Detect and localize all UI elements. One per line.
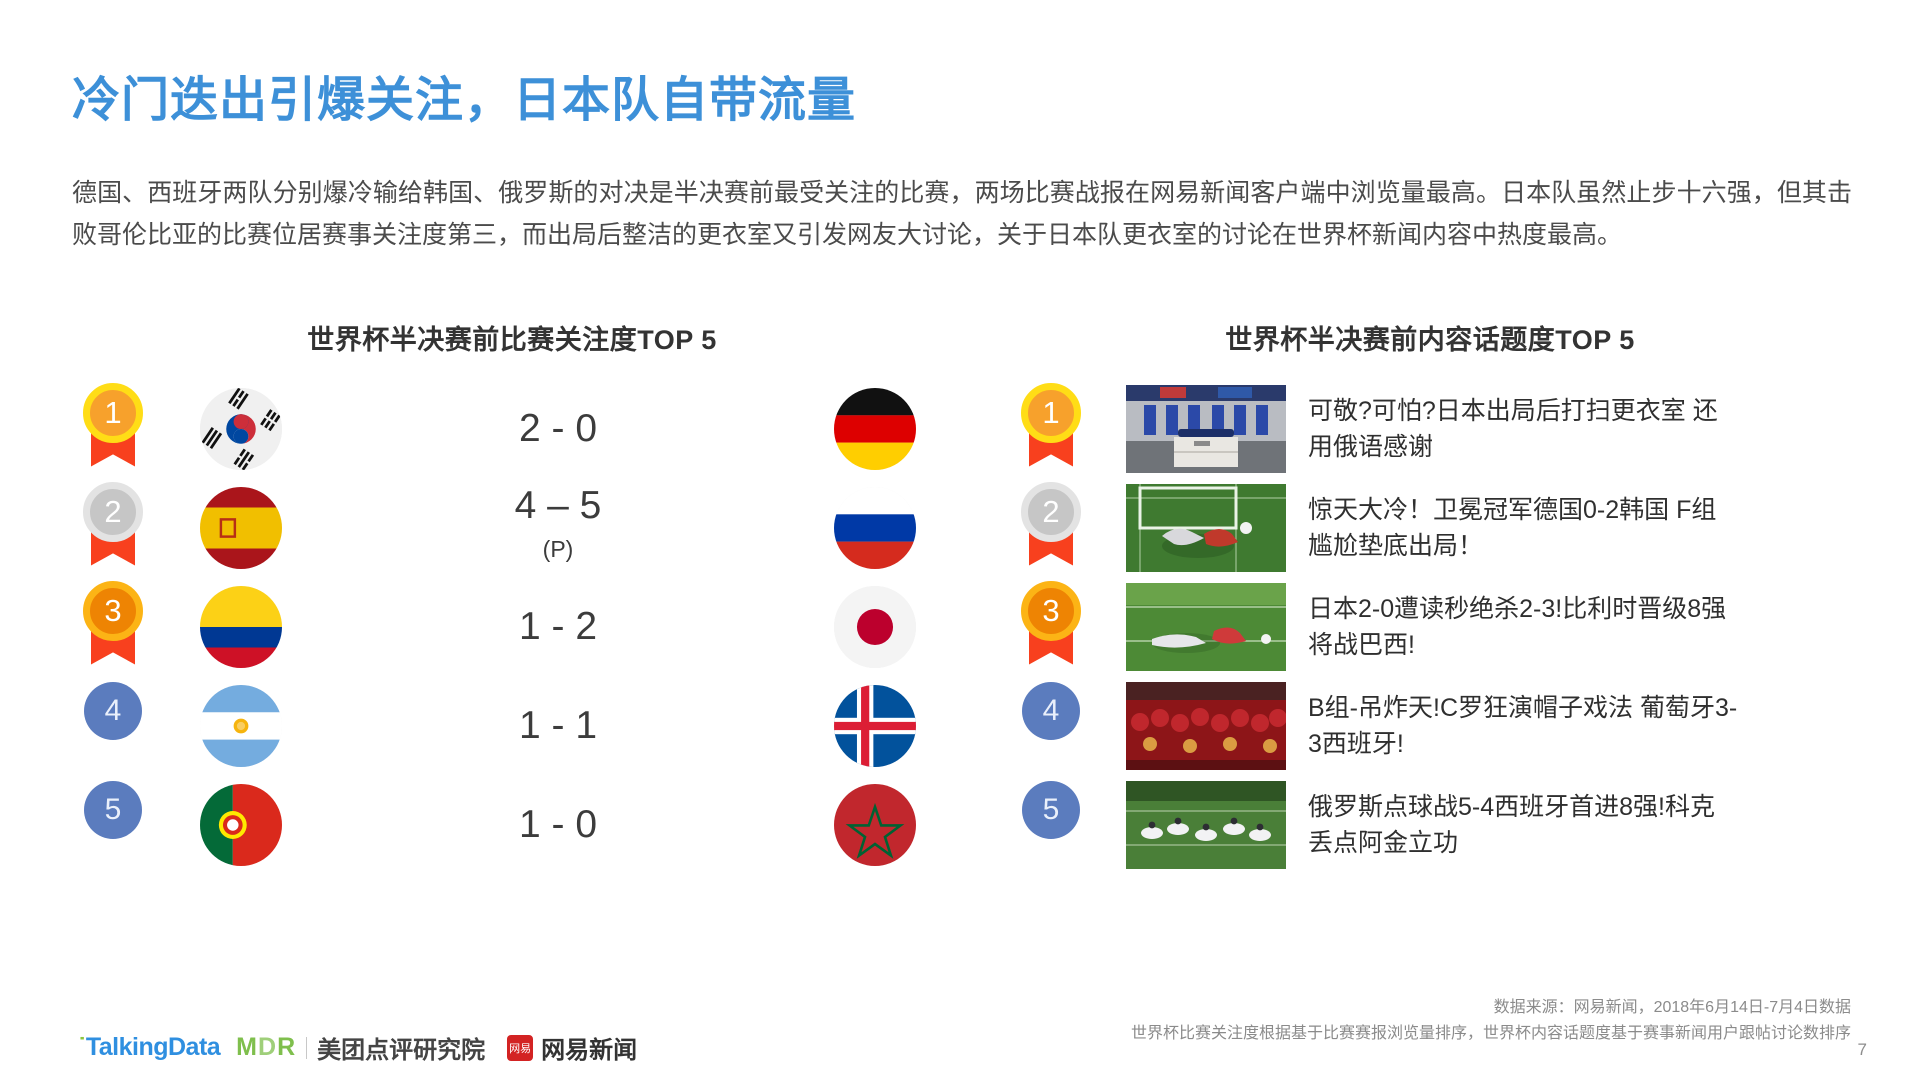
score-value: 1 - 1 — [519, 704, 597, 747]
match-row[interactable]: 41 - 1 — [72, 676, 952, 775]
score-note: (P) — [282, 529, 834, 569]
medal-icon: 3 — [1021, 581, 1081, 641]
rank-circle: 4 — [84, 682, 142, 740]
match-score: 2 - 0 — [282, 409, 834, 449]
source-line-1: 数据来源：网易新闻，2018年6月14日-7月4日数据 — [1131, 995, 1851, 1021]
match-row[interactable]: 24 – 5(P) — [72, 478, 952, 577]
news-headline[interactable]: 可敬?可怕?日本出局后打扫更衣室 还用俄语感谢 — [1308, 393, 1738, 465]
source-note: 数据来源：网易新闻，2018年6月14日-7月4日数据 世界杯比赛关注度根据基于… — [1131, 995, 1851, 1047]
news-row[interactable]: 4B组-吊炸天!C罗狂演帽子戏法 葡萄牙3-3西班牙! — [1010, 676, 1850, 775]
page-title: 冷门迭出引爆关注，日本队自带流量 — [72, 60, 856, 130]
right-panel-title: 世界杯半决赛前内容话题度TOP 5 — [1010, 318, 1850, 357]
medal-icon: 1 — [1021, 383, 1081, 443]
logo-divider — [306, 1037, 307, 1059]
rank-badge: 4 — [72, 680, 154, 772]
match-attention-panel: 世界杯半决赛前比赛关注度TOP 5 12 - 024 – 5(P)31 - 24… — [72, 318, 952, 874]
flag-spain — [200, 487, 282, 569]
rank-badge: 5 — [72, 779, 154, 871]
match-list: 12 - 024 – 5(P)31 - 241 - 151 - 0 — [72, 379, 952, 874]
news-thumbnail-players-on-pitch-photo[interactable] — [1126, 583, 1286, 671]
match-row[interactable]: 51 - 0 — [72, 775, 952, 874]
flag-morocco — [834, 784, 916, 866]
rank-badge: 5 — [1010, 779, 1092, 871]
rank-badge: 1 — [1010, 383, 1092, 475]
source-line-2: 世界杯比赛关注度根据基于比赛赛报浏览量排序，世界杯内容话题度基于赛事新闻用户跟帖… — [1131, 1021, 1851, 1047]
match-score: 1 - 0 — [282, 805, 834, 845]
netease-mark-icon: 网易 — [507, 1035, 533, 1061]
footer-logos: ˙TalkingData MDR 美团点评研究院 网易 网易新闻 — [78, 1030, 637, 1065]
news-row[interactable]: 3日本2-0遭读秒绝杀2-3!比利时晋级8强将战巴西! — [1010, 577, 1850, 676]
score-value: 1 - 2 — [519, 605, 597, 648]
flag-colombia — [200, 586, 282, 668]
rank-badge: 2 — [72, 482, 154, 574]
flag-portugal — [200, 784, 282, 866]
news-thumbnail-celebration-photo[interactable] — [1126, 781, 1286, 869]
mdr-logo: MDR — [236, 1033, 296, 1062]
news-row[interactable]: 1可敬?可怕?日本出局后打扫更衣室 还用俄语感谢 — [1010, 379, 1850, 478]
news-headline[interactable]: 俄罗斯点球战5-4西班牙首进8强!科克丢点阿金立功 — [1308, 789, 1738, 861]
match-score: 4 – 5(P) — [282, 486, 834, 569]
rank-badge: 1 — [72, 383, 154, 475]
match-row[interactable]: 12 - 0 — [72, 379, 952, 478]
score-value: 4 – 5 — [515, 484, 602, 527]
medal-icon: 1 — [83, 383, 143, 443]
news-row[interactable]: 5俄罗斯点球战5-4西班牙首进8强!科克丢点阿金立功 — [1010, 775, 1850, 874]
medal-icon: 3 — [83, 581, 143, 641]
rank-circle: 5 — [1022, 781, 1080, 839]
content-topic-panel: 世界杯半决赛前内容话题度TOP 5 1可敬?可怕?日本出局后打扫更衣室 还用俄语… — [1010, 318, 1850, 874]
rank-badge: 3 — [1010, 581, 1092, 673]
rank-badge: 4 — [1010, 680, 1092, 772]
flag-south-korea — [200, 388, 282, 470]
page-number: 7 — [1858, 1040, 1867, 1060]
news-thumbnail-goal-save-photo[interactable] — [1126, 484, 1286, 572]
left-panel-title: 世界杯半决赛前比赛关注度TOP 5 — [72, 318, 952, 357]
news-headline[interactable]: 惊天大冷！卫冕冠军德国0-2韩国 F组尴尬垫底出局！ — [1308, 492, 1738, 564]
flag-argentina — [200, 685, 282, 767]
netease-news-label: 网易新闻 — [541, 1030, 637, 1065]
medal-icon: 2 — [83, 482, 143, 542]
flag-russia — [834, 487, 916, 569]
rank-badge: 3 — [72, 581, 154, 673]
news-headline[interactable]: B组-吊炸天!C罗狂演帽子戏法 葡萄牙3-3西班牙! — [1308, 690, 1738, 762]
rank-badge: 2 — [1010, 482, 1092, 574]
rank-circle: 4 — [1022, 682, 1080, 740]
news-headline[interactable]: 日本2-0遭读秒绝杀2-3!比利时晋级8强将战巴西! — [1308, 591, 1738, 663]
match-row[interactable]: 31 - 2 — [72, 577, 952, 676]
news-thumbnail-red-crowd-photo[interactable] — [1126, 682, 1286, 770]
match-score: 1 - 2 — [282, 607, 834, 647]
news-row[interactable]: 2惊天大冷！卫冕冠军德国0-2韩国 F组尴尬垫底出局！ — [1010, 478, 1850, 577]
rank-circle: 5 — [84, 781, 142, 839]
flag-japan — [834, 586, 916, 668]
news-thumbnail-locker-room-photo[interactable] — [1126, 385, 1286, 473]
score-value: 1 - 0 — [519, 803, 597, 846]
talkingdata-logo: ˙TalkingData — [78, 1033, 220, 1062]
medal-icon: 2 — [1021, 482, 1081, 542]
flag-iceland — [834, 685, 916, 767]
news-list: 1可敬?可怕?日本出局后打扫更衣室 还用俄语感谢2惊天大冷！卫冕冠军德国0-2韩… — [1010, 379, 1850, 874]
match-score: 1 - 1 — [282, 706, 834, 746]
intro-paragraph: 德国、西班牙两队分别爆冷输给韩国、俄罗斯的对决是半决赛前最受关注的比赛，两场比赛… — [72, 172, 1852, 256]
meituan-research-logo: 美团点评研究院 — [317, 1030, 485, 1065]
score-value: 2 - 0 — [519, 407, 597, 450]
flag-germany — [834, 388, 916, 470]
netease-news-logo: 网易 网易新闻 — [507, 1030, 637, 1065]
